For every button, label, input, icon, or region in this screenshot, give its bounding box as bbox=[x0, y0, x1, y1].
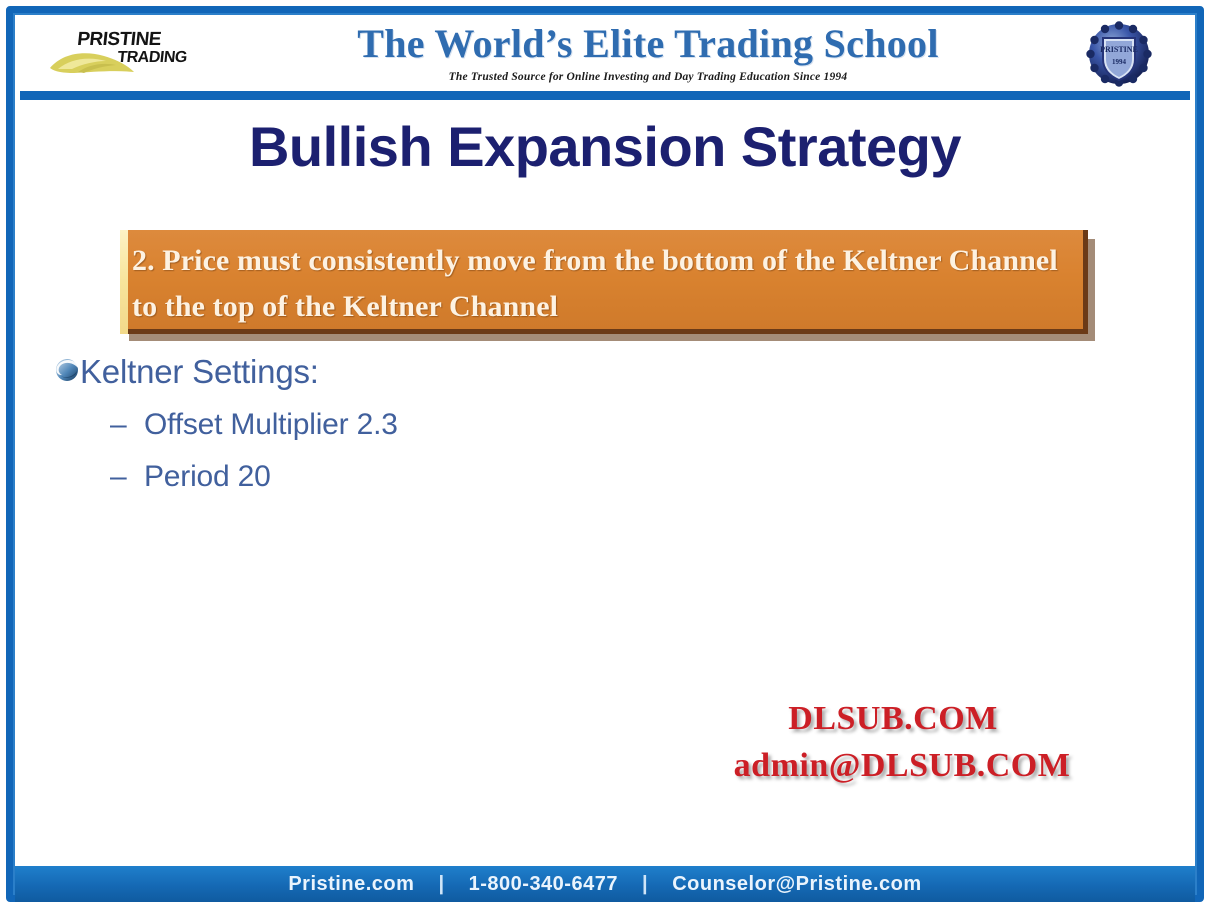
list-item: Keltner Settings: bbox=[32, 351, 932, 393]
list-item-label: Period 20 bbox=[144, 457, 271, 497]
banner-text: 2. Price must consistently move from the… bbox=[132, 238, 1072, 330]
footer-phone: 1-800-340-6477 bbox=[469, 873, 618, 895]
list-item-label: Keltner Settings: bbox=[80, 351, 319, 393]
highlight-banner-wrapper: 2. Price must consistently move from the… bbox=[120, 230, 1100, 342]
pristine-trading-logo: PRISTINE TRADING bbox=[48, 24, 228, 82]
dash-bullet-icon: – bbox=[110, 405, 144, 445]
watermark-line-1: DLSUB.COM bbox=[632, 695, 1172, 742]
watermark: DLSUB.COM admin@DLSUB.COM bbox=[632, 695, 1172, 789]
list-item: – Period 20 bbox=[32, 457, 932, 497]
dash-bullet-icon: – bbox=[110, 457, 144, 497]
header-divider bbox=[20, 91, 1190, 100]
watermark-line-2: admin@DLSUB.COM bbox=[632, 742, 1172, 789]
list-item-label: Offset Multiplier 2.3 bbox=[144, 405, 398, 445]
pristine-wordmark: PRISTINE TRADING bbox=[68, 30, 233, 74]
list-item: – Offset Multiplier 2.3 bbox=[32, 405, 932, 445]
header-tagline: The Trusted Source for Online Investing … bbox=[238, 70, 1058, 85]
svg-text:1994: 1994 bbox=[1112, 58, 1127, 66]
pristine-seal-icon: PRISTINE 1994 bbox=[1086, 21, 1152, 87]
slide-body: Bullish Expansion Strategy 2. Price must… bbox=[22, 103, 1188, 863]
footer-separator-2: | bbox=[624, 873, 666, 895]
footer-contact-bar: Pristine.com | 1-800-340-6477 | Counselo… bbox=[15, 866, 1195, 902]
slide-footer: Pristine.com | 1-800-340-6477 | Counselo… bbox=[15, 866, 1195, 902]
slide-header: PRISTINE TRADING The World’s Elite Tradi… bbox=[20, 16, 1190, 91]
footer-separator-1: | bbox=[420, 873, 462, 895]
brand-line-pristine: PRISTINE bbox=[70, 30, 232, 49]
page-title: Bullish Expansion Strategy bbox=[22, 115, 1188, 179]
swoosh-bullet-icon bbox=[54, 357, 80, 387]
highlight-banner: 2. Price must consistently move from the… bbox=[120, 230, 1088, 334]
slide-canvas: PRISTINE TRADING The World’s Elite Tradi… bbox=[0, 0, 1210, 908]
header-title: The World’s Elite Trading School bbox=[238, 19, 1058, 69]
banner-left-accent bbox=[120, 230, 128, 334]
bullet-list: Keltner Settings: – Offset Multiplier 2.… bbox=[32, 351, 932, 497]
footer-email: Counselor@Pristine.com bbox=[672, 873, 921, 895]
footer-website: Pristine.com bbox=[288, 873, 414, 895]
brand-line-trading: TRADING bbox=[69, 49, 231, 66]
svg-text:PRISTINE: PRISTINE bbox=[1100, 45, 1138, 54]
header-title-group: The World’s Elite Trading School The Tru… bbox=[238, 19, 1058, 85]
